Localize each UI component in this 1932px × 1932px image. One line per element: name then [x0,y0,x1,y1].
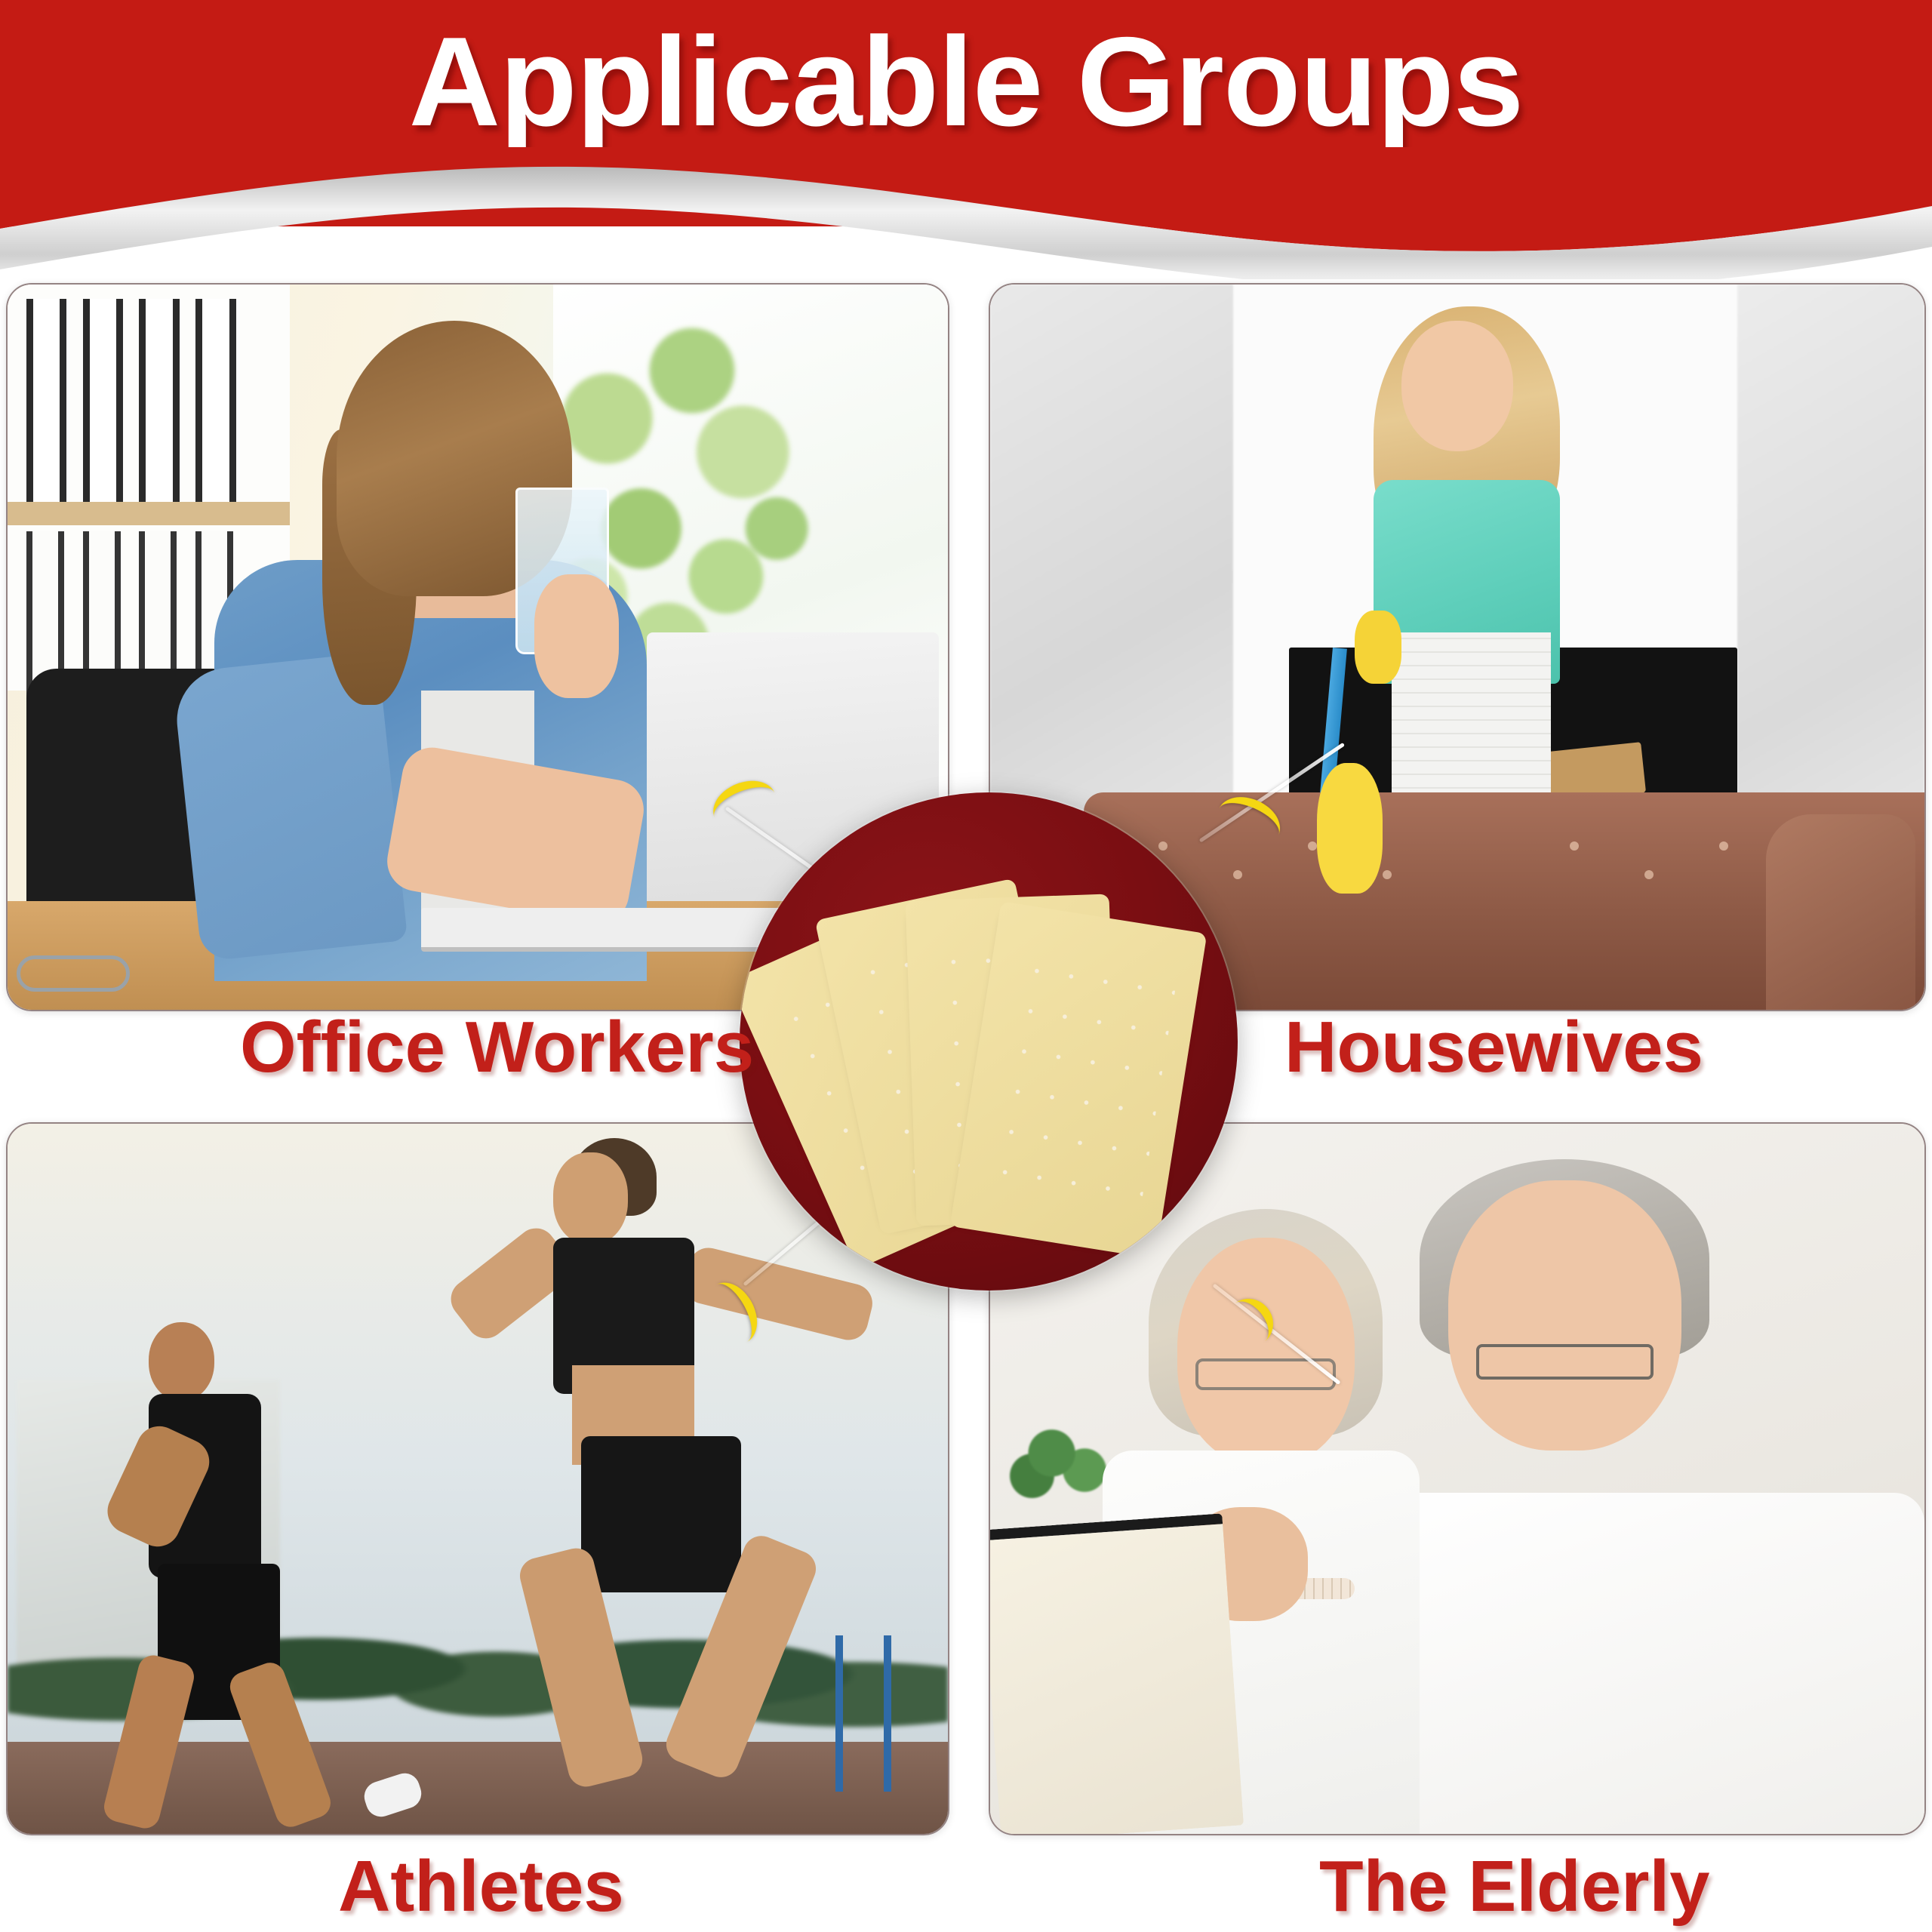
pain-relief-patch [958,912,1199,1247]
header-banner: Applicable Groups [0,0,1932,226]
product-circle-badge[interactable] [740,792,1238,1291]
page-title: Applicable Groups [0,18,1932,145]
caption-housewives: Housewives [1284,1011,1703,1084]
caption-athletes: Athletes [338,1850,624,1923]
banner-wave-divider [0,147,1932,279]
caption-the-elderly: The Elderly [1319,1850,1710,1923]
caption-office-workers: Office Workers [240,1011,754,1084]
